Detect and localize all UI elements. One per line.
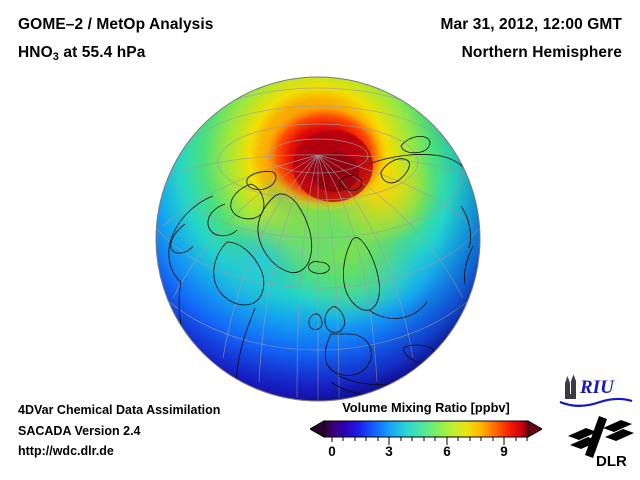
dlr-logo: DLR	[566, 414, 636, 470]
dlr-bird-icon	[568, 416, 634, 458]
footer-line-url[interactable]: http://wdc.dlr.de	[18, 441, 220, 462]
dlr-wordmark: DLR	[596, 453, 627, 470]
species-prefix: HNO	[18, 44, 53, 61]
timestamp: Mar 31, 2012, 12:00 GMT	[440, 16, 622, 34]
colorbar-tick-label-0: 0	[328, 444, 336, 459]
colorbar-tick-label-9: 9	[500, 444, 508, 459]
colorbar-tick-label-6: 6	[443, 444, 451, 459]
footer-credits: 4DVar Chemical Data Assimilation SACADA …	[18, 400, 220, 462]
species-subscript: 3	[53, 51, 59, 63]
colorbar-right-arrow	[528, 421, 542, 437]
hemisphere-label: Northern Hemisphere	[462, 44, 622, 62]
limb-shading	[156, 77, 480, 401]
footer-line-method: 4DVar Chemical Data Assimilation	[18, 400, 220, 421]
globe-field	[155, 76, 481, 402]
colorbar: Volume Mixing Ratio [ppbv]	[310, 400, 542, 472]
globe-svg	[155, 76, 481, 402]
figure-canvas: GOME–2 / MetOp Analysis HNO3 at 55.4 hPa…	[0, 0, 640, 480]
colorbar-ticks	[332, 437, 527, 445]
riu-wordmark: RIU	[579, 377, 615, 398]
species-subtitle: HNO3 at 55.4 hPa	[18, 44, 145, 62]
riu-logo: RIU	[558, 374, 634, 408]
colorbar-gradient	[324, 421, 528, 437]
riu-wave-icon	[560, 399, 632, 406]
page-title: GOME–2 / MetOp Analysis	[18, 16, 214, 34]
footer-line-version: SACADA Version 2.4	[18, 421, 220, 442]
riu-tower-icon	[565, 375, 576, 400]
colorbar-left-arrow	[310, 421, 324, 437]
globe-map	[155, 76, 481, 402]
colorbar-tick-label-3: 3	[385, 444, 393, 459]
colorbar-title: Volume Mixing Ratio [ppbv]	[310, 400, 542, 415]
species-suffix: at 55.4 hPa	[59, 44, 146, 61]
